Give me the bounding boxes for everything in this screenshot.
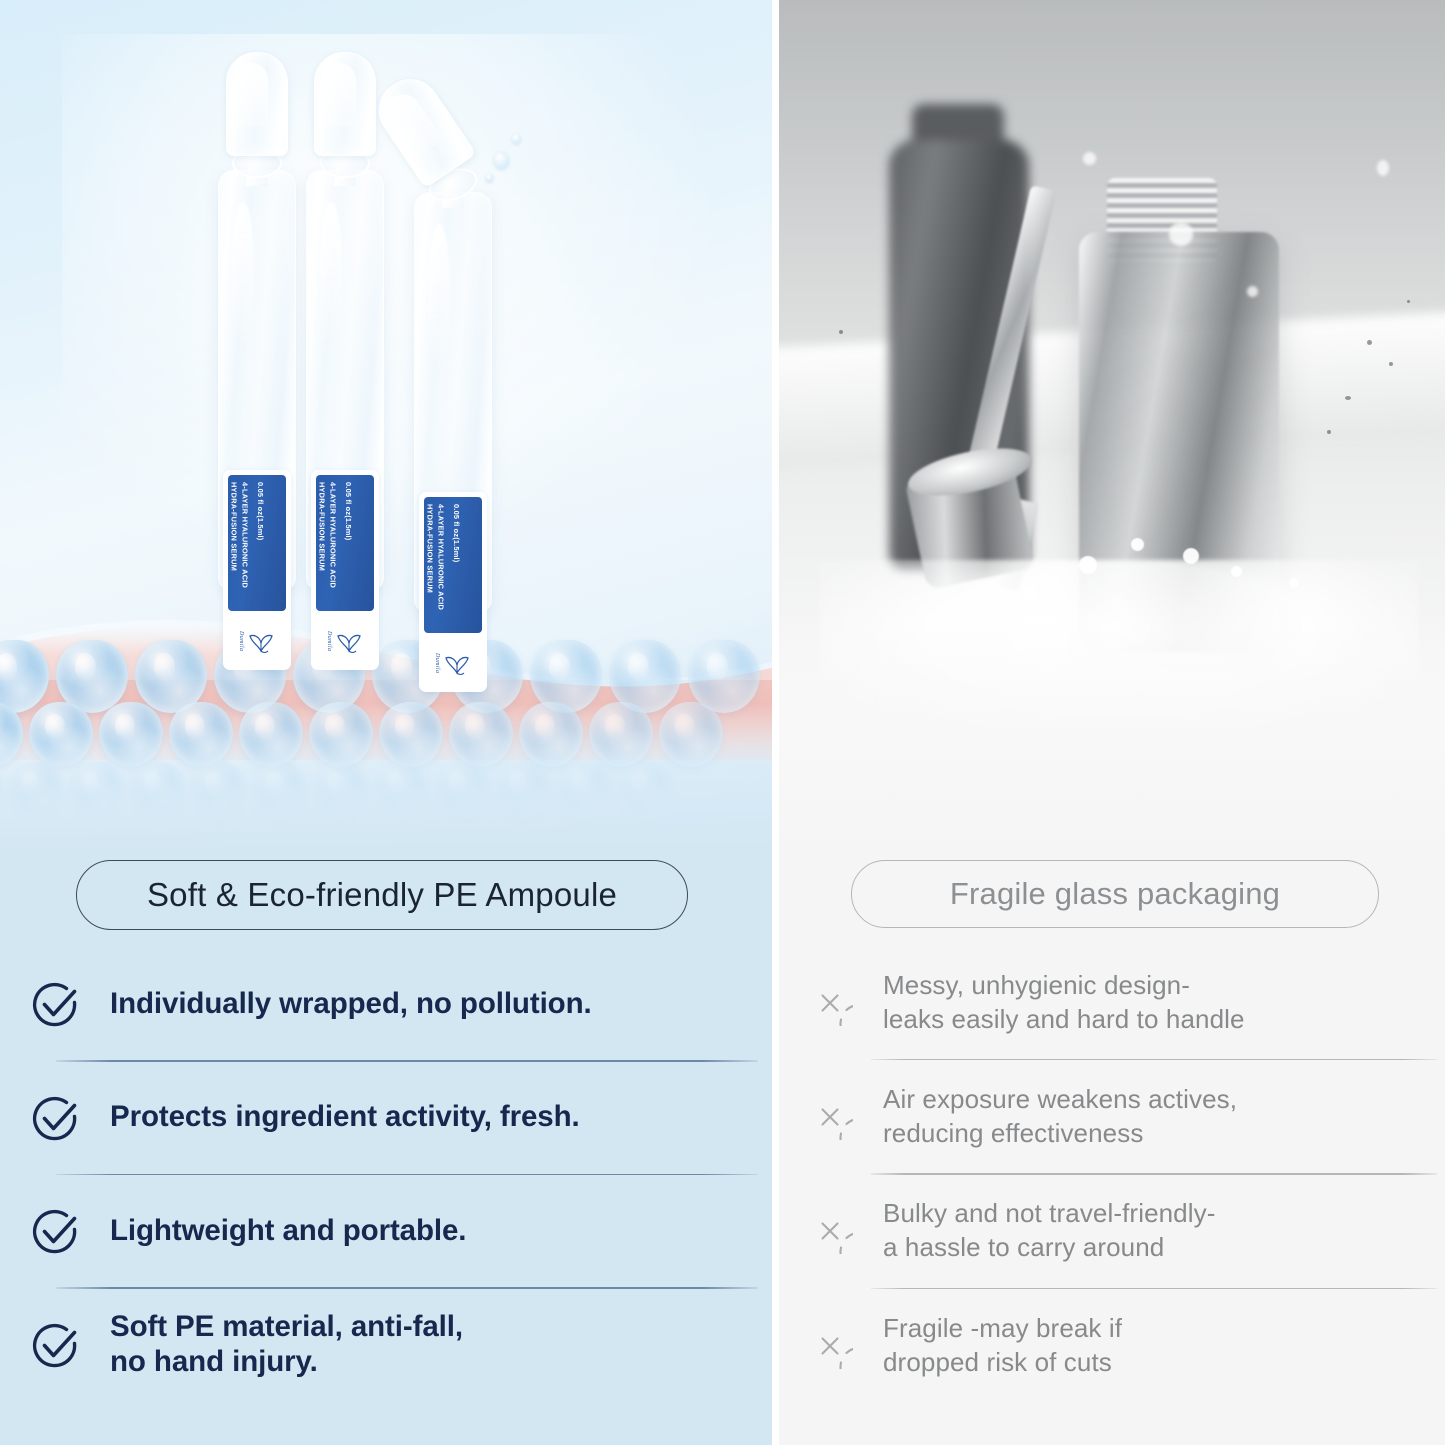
splash-droplet: [1131, 538, 1144, 551]
water-speck: [1345, 396, 1351, 400]
benefit-row: Individually wrapped, no pollution.: [0, 948, 772, 1060]
benefit-row: Lightweight and portable.: [0, 1175, 772, 1287]
splash-droplet: [1079, 556, 1097, 574]
check-circle-icon: [30, 1319, 82, 1371]
left-benefit-list: Individually wrapped, no pollution. Prot…: [0, 948, 772, 1401]
x-circle-icon: [807, 1094, 853, 1140]
benefit-text: Protects ingredient activity, fresh.: [110, 1100, 580, 1135]
right-header-pill: Fragile glass packaging: [851, 860, 1379, 928]
serum-droplet-small: [512, 134, 521, 144]
drawback-row: Bulky and not travel-friendly-a hassle t…: [779, 1175, 1445, 1288]
brand-name: Dumila: [238, 631, 244, 651]
splash-droplet: [1231, 566, 1242, 577]
brand-name: Dumila: [434, 653, 440, 673]
ampoule-label-2: 4-LAYER HYALURONIC ACID HYDRA-FUSION SER…: [311, 470, 379, 670]
butterfly-leaf-icon: [246, 627, 276, 655]
check-circle-icon: [30, 1205, 82, 1257]
drawback-row: Air exposure weakens actives,reducing ef…: [779, 1060, 1445, 1173]
right-drawback-list: Messy, unhygienic design-leaks easily an…: [779, 946, 1445, 1402]
butterfly-leaf-icon: [334, 627, 364, 655]
splash-droplet: [1289, 578, 1299, 588]
drawback-row: Messy, unhygienic design-leaks easily an…: [779, 946, 1445, 1059]
drawback-row: Fragile -may break ifdropped risk of cut…: [779, 1289, 1445, 1402]
left-hero-illustration: 4-LAYER HYALURONIC ACID HYDRA-FUSION SER…: [0, 0, 772, 848]
brand-mark-1: Dumila: [228, 616, 286, 666]
drawback-text: Bulky and not travel-friendly-a hassle t…: [883, 1197, 1215, 1265]
column-divider: [772, 0, 779, 1445]
water-speck: [839, 330, 843, 334]
right-header-label: Fragile glass packaging: [950, 876, 1280, 912]
water-speck: [1407, 300, 1410, 303]
water-speck: [1367, 340, 1372, 345]
product-volume: 0.05 fl oz(1.5ml): [344, 482, 353, 540]
ampoule-group: 4-LAYER HYALURONIC ACID HYDRA-FUSION SER…: [200, 34, 560, 674]
brand-mark-3: Dumila: [424, 638, 482, 688]
brand-mark-2: Dumila: [316, 616, 374, 666]
photo-bottom-fade: [779, 618, 1445, 848]
product-label-line2: HYDRA-FUSION SERUM: [230, 482, 239, 571]
product-label-line1: 4-LAYER HYALURONIC ACID: [240, 482, 249, 588]
ampoule-cap-2: [314, 52, 376, 156]
water-speck: [1327, 430, 1331, 434]
left-benefits-panel: Soft & Eco-friendly PE Ampoule Individua…: [0, 848, 772, 1445]
product-label-line1: 4-LAYER HYALURONIC ACID: [328, 482, 337, 588]
water-speck: [1389, 362, 1393, 366]
benefit-text: Soft PE material, anti-fall,no hand inju…: [110, 1310, 463, 1379]
serum-droplet-tiny: [486, 174, 493, 182]
ampoule-label-3: 4-LAYER HYALURONIC ACID HYDRA-FUSION SER…: [419, 492, 487, 692]
right-hero-photo: [779, 0, 1445, 848]
drawback-text: Air exposure weakens actives,reducing ef…: [883, 1083, 1237, 1151]
x-circle-icon: [807, 980, 853, 1026]
serum-droplet: [494, 152, 509, 169]
benefit-row: Protects ingredient activity, fresh.: [0, 1062, 772, 1174]
left-header-pill: Soft & Eco-friendly PE Ampoule: [76, 860, 688, 930]
butterfly-leaf-icon: [442, 649, 472, 677]
product-label-line2: HYDRA-FUSION SERUM: [426, 504, 435, 593]
x-circle-icon: [807, 1323, 853, 1369]
drawback-text: Fragile -may break ifdropped risk of cut…: [883, 1312, 1122, 1380]
bokeh-highlight: [1083, 152, 1096, 165]
cells-fade: [0, 730, 772, 850]
ampoule-label-1: 4-LAYER HYALURONIC ACID HYDRA-FUSION SER…: [223, 470, 291, 670]
product-label-line1: 4-LAYER HYALURONIC ACID: [436, 504, 445, 610]
ampoule-cap-1: [226, 52, 288, 156]
brand-name: Dumila: [326, 631, 332, 651]
drawback-text: Messy, unhygienic design-leaks easily an…: [883, 969, 1245, 1037]
benefit-text: Lightweight and portable.: [110, 1214, 466, 1249]
check-circle-icon: [30, 978, 82, 1030]
benefit-row: Soft PE material, anti-fall,no hand inju…: [0, 1289, 772, 1401]
x-circle-icon: [807, 1208, 853, 1254]
left-header-label: Soft & Eco-friendly PE Ampoule: [147, 876, 617, 914]
bokeh-highlight: [1169, 222, 1193, 246]
splash-droplet: [1183, 548, 1199, 564]
product-volume: 0.05 fl oz(1.5ml): [256, 482, 265, 540]
product-label-line2: HYDRA-FUSION SERUM: [318, 482, 327, 571]
product-volume: 0.05 fl oz(1.5ml): [452, 504, 461, 562]
right-drawbacks-panel: Fragile glass packaging Messy, unhygieni…: [779, 848, 1445, 1445]
benefit-text: Individually wrapped, no pollution.: [110, 987, 592, 1022]
check-circle-icon: [30, 1092, 82, 1144]
bokeh-highlight: [1247, 286, 1258, 297]
left-column-pe-ampoule: 4-LAYER HYALURONIC ACID HYDRA-FUSION SER…: [0, 0, 772, 1445]
splash-droplet: [1023, 586, 1037, 600]
bokeh-highlight: [1377, 160, 1389, 176]
comparison-infographic: 4-LAYER HYALURONIC ACID HYDRA-FUSION SER…: [0, 0, 1445, 1445]
right-column-glass-packaging: Fragile glass packaging Messy, unhygieni…: [779, 0, 1445, 1445]
